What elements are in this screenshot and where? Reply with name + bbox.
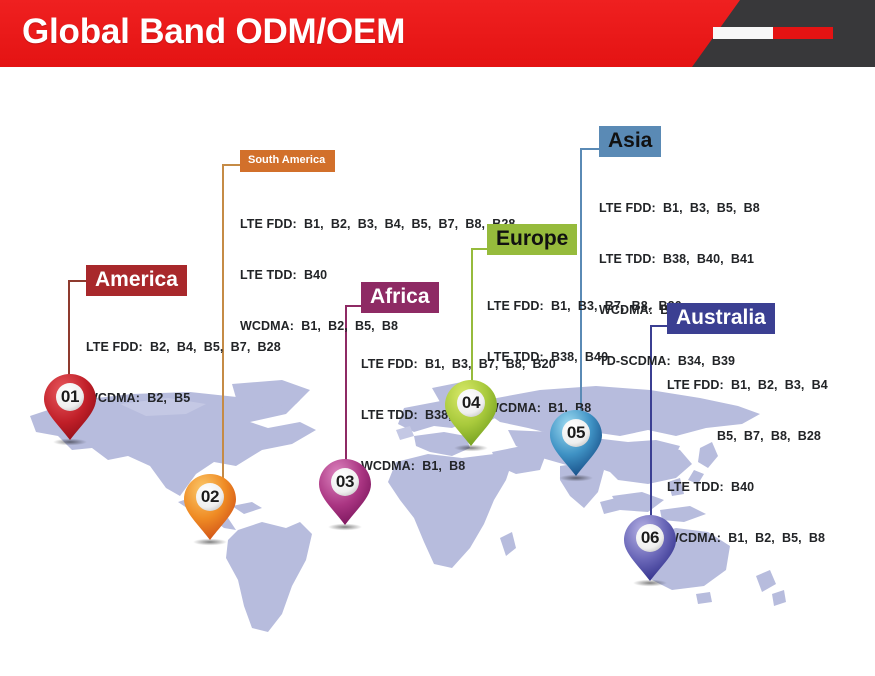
map-pin-icon bbox=[42, 372, 98, 446]
map-pin-number: 01 bbox=[42, 385, 98, 409]
band-line: LTE FDD: B1, B3, B5, B8 bbox=[599, 200, 760, 217]
map-pin-number: 06 bbox=[622, 526, 678, 550]
band-line: LTE TDD: B38, B40, B41 bbox=[599, 251, 760, 268]
map-pin-icon bbox=[443, 378, 499, 452]
map-pin-02[interactable]: 02 bbox=[182, 472, 238, 546]
region-label-america: America bbox=[86, 265, 187, 296]
map-pin-04[interactable]: 04 bbox=[443, 378, 499, 452]
map-pin-icon bbox=[548, 408, 604, 482]
band-line: WCDMA: B2, B5 bbox=[86, 390, 281, 407]
page-header: Global Band ODM/OEM bbox=[0, 0, 875, 67]
region-bands-australia: LTE FDD: B1, B2, B3, B4 B5, B7, B8, B28 … bbox=[667, 343, 828, 581]
band-line: LTE TDD: B40 bbox=[667, 479, 828, 496]
band-line: WCDMA: B1, B2, B5, B8 bbox=[667, 530, 828, 547]
infographic-page: Global Band ODM/OEM bbox=[0, 0, 875, 676]
header-bar-graphic bbox=[713, 27, 833, 39]
map-pin-05[interactable]: 05 bbox=[548, 408, 604, 482]
map-pin-06[interactable]: 06 bbox=[622, 513, 678, 587]
band-line: LTE FDD: B1, B2, B3, B4, B5, B7, B8, B28 bbox=[240, 216, 515, 233]
region-label-australia: Australia bbox=[667, 303, 775, 334]
map-pin-icon bbox=[182, 472, 238, 546]
map-pin-number: 05 bbox=[548, 421, 604, 445]
map-pin-03[interactable]: 03 bbox=[317, 457, 373, 531]
band-line: B5, B7, B8, B28 bbox=[667, 428, 828, 445]
info-block-australia: Australia LTE FDD: B1, B2, B3, B4 B5, B7… bbox=[667, 303, 828, 581]
header-bar-white-segment bbox=[713, 27, 773, 39]
region-label-asia: Asia bbox=[599, 126, 661, 157]
region-label-africa: Africa bbox=[361, 282, 439, 313]
map-pin-01[interactable]: 01 bbox=[42, 372, 98, 446]
header-divider bbox=[0, 67, 875, 70]
map-pin-icon bbox=[317, 457, 373, 531]
header-bar-red-segment bbox=[773, 27, 833, 39]
page-title: Global Band ODM/OEM bbox=[22, 9, 405, 55]
map-pin-number: 03 bbox=[317, 470, 373, 494]
band-line: LTE FDD: B1, B2, B3, B4 bbox=[667, 377, 828, 394]
map-pin-number: 02 bbox=[182, 485, 238, 509]
map-pin-icon bbox=[622, 513, 678, 587]
map-pin-number: 04 bbox=[443, 391, 499, 415]
region-label-europe: Europe bbox=[487, 224, 577, 255]
band-line: WCDMA: B1, B8 bbox=[361, 458, 556, 475]
region-label-south-america: South America bbox=[240, 150, 335, 172]
